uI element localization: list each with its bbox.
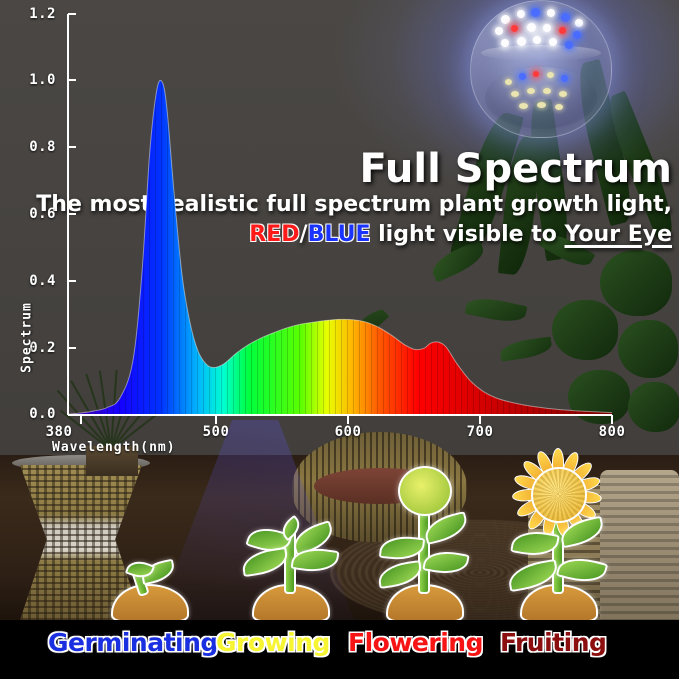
- stage-label-flowering: Flowering: [348, 628, 483, 657]
- stage-illustration-fruiting: [498, 450, 618, 622]
- ytick-0_0: 0.0: [22, 406, 56, 422]
- ytick-0_4: 0.4: [22, 273, 56, 289]
- ytick-1_2: 1.2: [22, 6, 56, 22]
- plant-leaf-lower-left: [241, 547, 290, 577]
- stage-illustration-germinating: [105, 560, 195, 622]
- xtick-600: 600: [321, 424, 375, 440]
- x-axis-title: Wavelength(nm): [52, 440, 176, 455]
- ytick-0_6: 0.6: [22, 206, 56, 222]
- xtick-800: 800: [585, 424, 639, 440]
- flower-bud: [398, 466, 452, 516]
- spectrum-area: [68, 80, 612, 415]
- stage-label-bar: Germinating Growing Flowering Fruiting: [0, 620, 679, 679]
- xtick-700: 700: [453, 424, 507, 440]
- spectrum-chart: 1.2 1.0 0.8 0.6 0.4 0.2 0.0 380 500 600 …: [0, 0, 679, 470]
- xtick-500: 500: [189, 424, 243, 440]
- spectrum-chart-svg: [0, 0, 679, 470]
- y-axis-title: Spectrum: [20, 293, 35, 383]
- stage-illustration-growing: [236, 512, 346, 622]
- stage-label-fruiting: Fruiting: [500, 628, 606, 657]
- ytick-0_8: 0.8: [22, 139, 56, 155]
- product-infographic: Full Spectrum The most realistic full sp…: [0, 0, 679, 679]
- stage-label-growing: Growing: [216, 628, 330, 657]
- xtick-380: 380: [32, 424, 86, 440]
- stage-label-germinating: Germinating: [48, 628, 218, 657]
- soil-mound: [111, 584, 189, 622]
- sunflower-core: [531, 467, 587, 523]
- stage-illustration-flowering: [370, 462, 480, 622]
- ytick-1_0: 1.0: [22, 72, 56, 88]
